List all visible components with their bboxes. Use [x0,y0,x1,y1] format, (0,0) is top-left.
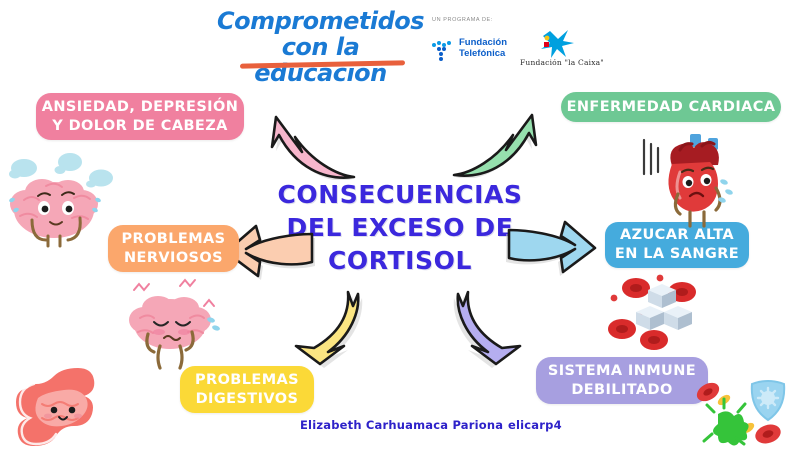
fundacion-lacaixa-logo: Fundación "la Caixa" [516,28,608,70]
telefonica-dots-icon [432,38,456,62]
brand-line-2: con la educación [254,33,387,87]
badge-azucar-line-2: EN LA SANGRE [615,246,739,262]
telefonica-name: Fundación Telefónica [459,37,507,59]
program-label: UN PROGRAMA DE: [432,17,493,23]
lacaixa-name: Fundación "la Caixa" [516,58,608,67]
badge-inmune-line-1: SISTEMA INMUNE [548,363,696,379]
lacaixa-star-icon [516,28,608,60]
arrow-to-azucar [500,218,605,280]
brand-line-1: Comprometidos [217,7,424,35]
anxious-brain-icon [118,272,228,372]
arrow-to-inmune [430,288,530,370]
badge-enfermedad-cardiaca[interactable]: ENFERMEDAD CARDIACA [561,92,781,122]
fundacion-telefonica-logo: Fundación Telefónica [432,36,524,64]
brand-logo-text: Comprometidos con la educación [213,8,428,86]
telefonica-line-2: Telefónica [459,48,505,59]
handle-credit: elicarp4 [508,418,562,432]
badge-problemas-digestivos[interactable]: PROBLEMAS DIGESTIVOS [180,366,314,413]
badge-ansiedad-depresion[interactable]: ANSIEDAD, DEPRESIÓN Y DOLOR DE CABEZA [36,93,244,140]
arrow-to-ansiedad [246,100,366,180]
title-line-1: CONSECUENCIAS [277,180,522,209]
badge-sistema-inmune[interactable]: SISTEMA INMUNE DEBILITADO [536,357,708,404]
badge-digestivos-line-1: PROBLEMAS [195,372,299,388]
stressed-brain-icon [2,138,122,253]
author-credit: Elizabeth Carhuamaca Pariona [300,418,503,432]
badge-problemas-nerviosos[interactable]: PROBLEMAS NERVIOSOS [108,225,239,272]
badge-nerviosos-line-2: NERVIOSOS [124,250,223,266]
badge-inmune-line-2: DEBILITADO [571,382,672,398]
telefonica-line-1: Fundación [459,37,507,48]
immune-shield-icon [692,378,800,450]
badge-ansiedad-line-2: Y DOLOR DE CABEZA [52,118,228,134]
badge-ansiedad-line-1: ANSIEDAD, DEPRESIÓN [42,99,239,115]
blood-cells-sugar-icon [578,272,698,356]
badge-nerviosos-line-1: PROBLEMAS [121,231,225,247]
arrow-to-digestivos [286,288,386,370]
badge-digestivos-line-2: DIGESTIVOS [196,391,299,407]
intestines-icon [4,358,126,448]
sad-heart-icon [636,132,740,232]
infographic-canvas: Comprometidos con la educación UN PROGRA… [0,0,800,450]
title-line-3: CORTISOL [328,246,472,275]
arrow-to-cardiaca [442,98,562,178]
header: Comprometidos con la educación UN PROGRA… [0,0,800,84]
badge-cardiaca-line-1: ENFERMEDAD CARDIACA [567,98,776,116]
